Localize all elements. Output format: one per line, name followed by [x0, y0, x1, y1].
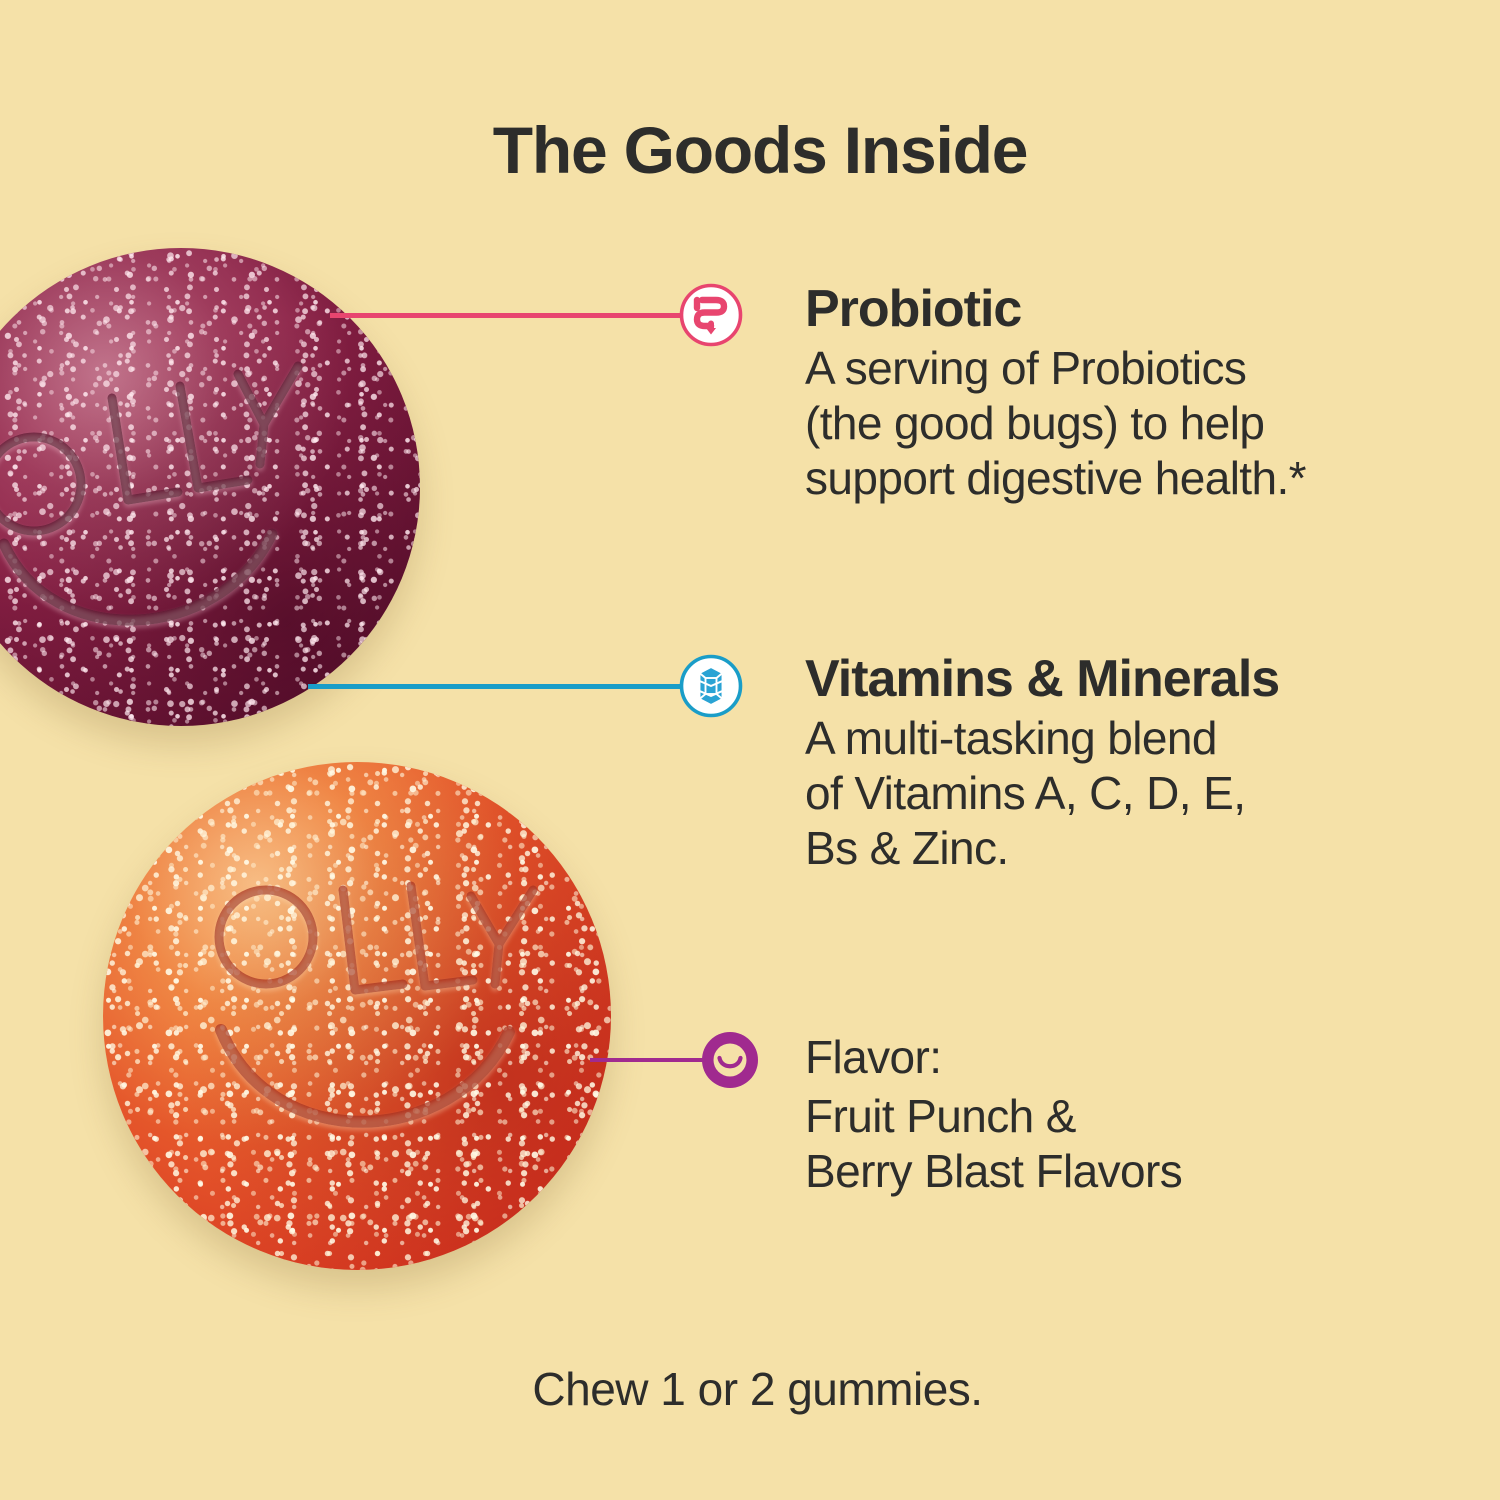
- vitamins-badge: [679, 654, 743, 718]
- feature-probiotic: Probiotic A serving of Probiotics (the g…: [805, 282, 1445, 507]
- feature-body-vitamins: A multi-tasking blend of Vitamins A, C, …: [805, 711, 1445, 877]
- olly-emboss-berry: [0, 248, 420, 726]
- feature-vitamins-minerals: Vitamins & Minerals A multi-tasking blen…: [805, 652, 1445, 877]
- fruit-punch-gummy-image: [103, 762, 611, 1270]
- flavor-label: Flavor:: [805, 1030, 1445, 1085]
- gem-icon: [679, 654, 743, 718]
- connector-line-flavor: [590, 1058, 710, 1062]
- connector-line-vitamins: [308, 684, 710, 689]
- infographic-canvas: The Goods Inside: [0, 0, 1500, 1500]
- probiotic-badge: [679, 283, 743, 347]
- sugar-crystal-texture: [103, 762, 611, 1270]
- connector-line-probiotic: [330, 313, 710, 318]
- olly-smile-icon: [700, 1030, 760, 1090]
- olly-emboss-fruit-punch: [103, 762, 611, 1270]
- feature-heading-vitamins: Vitamins & Minerals: [805, 652, 1445, 707]
- flavor-value: Fruit Punch & Berry Blast Flavors: [805, 1089, 1445, 1199]
- flavor-badge: [700, 1030, 760, 1090]
- berry-gummy-image: [0, 248, 420, 726]
- feature-heading-probiotic: Probiotic: [805, 282, 1445, 337]
- feature-body-probiotic: A serving of Probiotics (the good bugs) …: [805, 341, 1445, 507]
- sugar-crystal-texture: [0, 248, 420, 726]
- feature-flavor: Flavor: Fruit Punch & Berry Blast Flavor…: [805, 1026, 1445, 1200]
- intestine-icon: [679, 283, 743, 347]
- footer-note: Chew 1 or 2 gummies.: [0, 1362, 1500, 1416]
- page-title: The Goods Inside: [0, 112, 1500, 188]
